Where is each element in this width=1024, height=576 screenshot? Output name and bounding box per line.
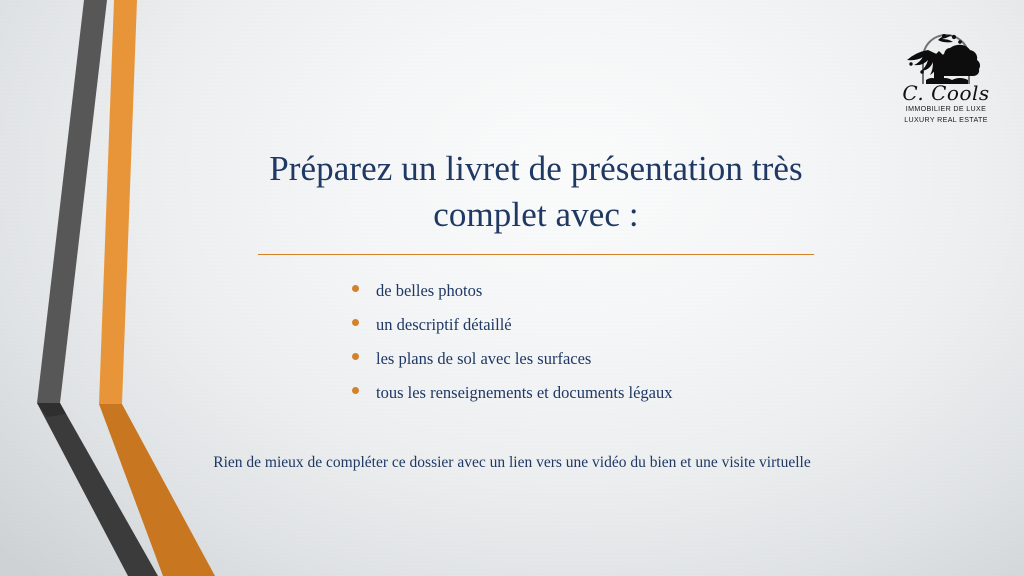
title-block: Préparez un livret de présentation très … [216, 146, 856, 255]
presentation-slide: C. Cools IMMOBILIER DE LUXE LUXURY REAL … [0, 0, 1024, 576]
logo: C. Cools IMMOBILIER DE LUXE LUXURY REAL … [890, 28, 1002, 125]
bullet-dot-icon [352, 387, 359, 394]
bullet-text: un descriptif détaillé [376, 317, 512, 334]
gray-band-upper [37, 0, 107, 403]
slide-title: Préparez un livret de présentation très … [216, 146, 856, 238]
bullet-dot-icon [352, 285, 359, 292]
bullet-text: de belles photos [376, 283, 482, 300]
logo-tagline-en: LUXURY REAL ESTATE [890, 115, 1002, 126]
list-item: tous les renseignements et documents lég… [352, 385, 672, 419]
bullet-dot-icon [352, 319, 359, 326]
bullet-dot-icon [352, 353, 359, 360]
footer-caption: Rien de mieux de compléter ce dossier av… [0, 454, 1024, 472]
logo-tagline-fr: IMMOBILIER DE LUXE [890, 104, 1002, 115]
title-accent-rule [258, 254, 814, 255]
logo-script-name: C. Cools [890, 83, 1002, 104]
list-item: un descriptif détaillé [352, 317, 672, 351]
orange-band-upper [99, 0, 137, 404]
banded-chevron-decoration [0, 0, 260, 576]
bullet-text: les plans de sol avec les surfaces [376, 351, 591, 368]
list-item: de belles photos [352, 283, 672, 317]
bullet-text: tous les renseignements et documents lég… [376, 385, 672, 402]
list-item: les plans de sol avec les surfaces [352, 351, 672, 385]
provencal-house-olive-branch-emblem [898, 28, 994, 86]
bullet-list: de belles photos un descriptif détaillé … [352, 283, 672, 419]
